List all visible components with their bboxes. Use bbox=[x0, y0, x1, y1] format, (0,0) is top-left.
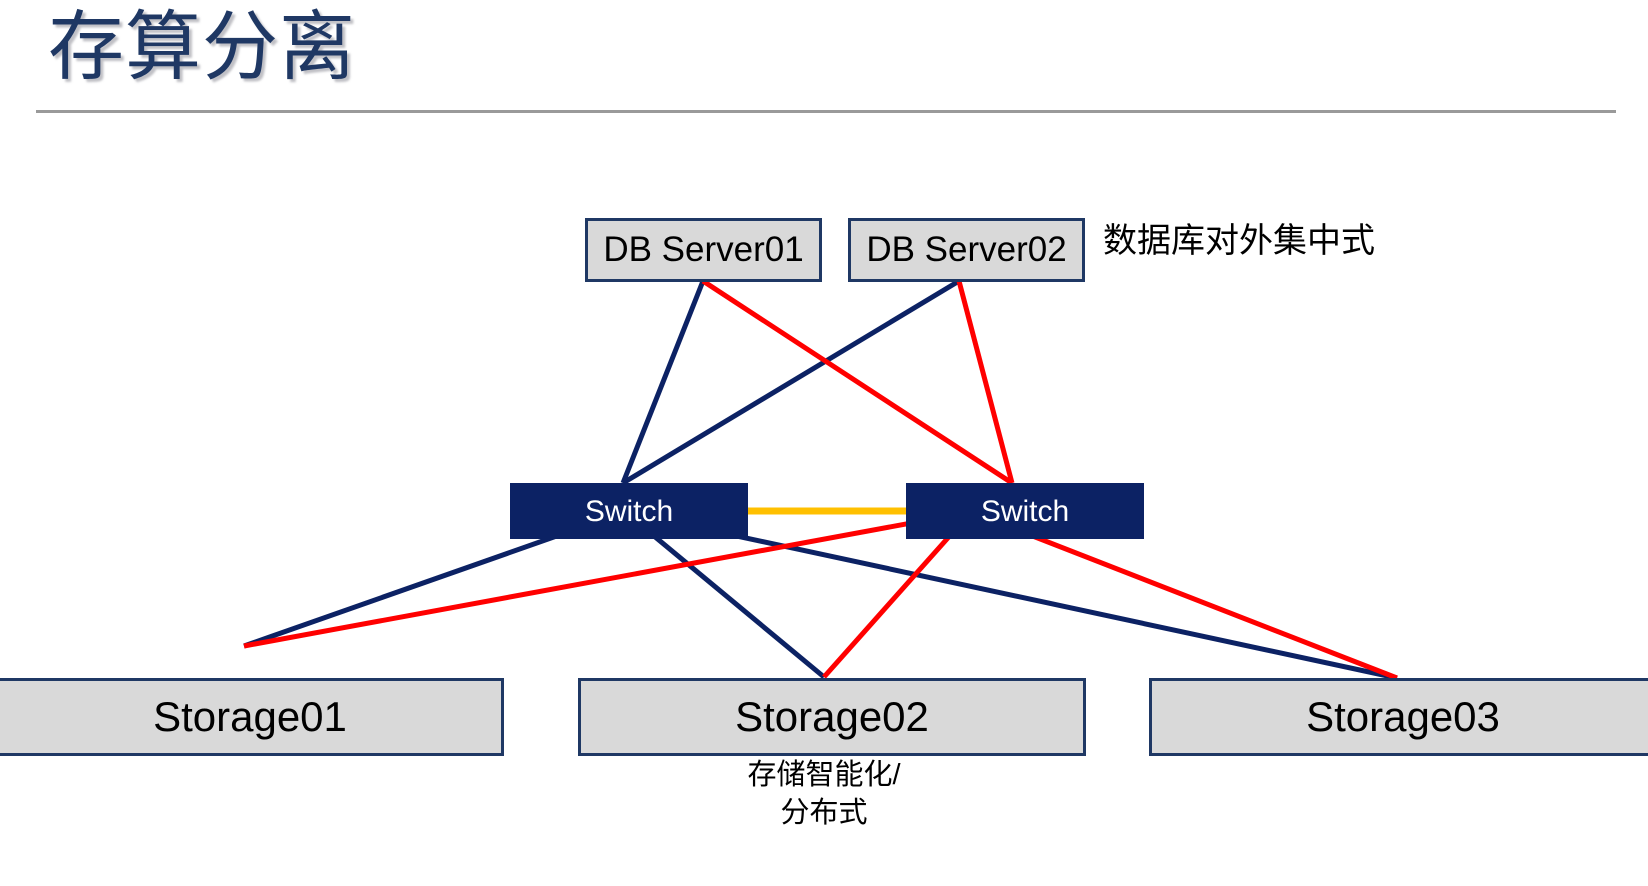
node-switch-left[interactable]: Switch bbox=[510, 483, 748, 539]
node-switch-left-label: Switch bbox=[585, 495, 673, 528]
link-db02-switch-right bbox=[959, 281, 1012, 483]
caption-storage-tier: 存储智能化/ 分布式 bbox=[614, 756, 1034, 833]
node-storage-01[interactable]: Storage01 bbox=[0, 678, 504, 756]
link-db02-switch-left bbox=[623, 281, 959, 483]
caption-database-tier: 数据库对外集中式 bbox=[1103, 220, 1375, 263]
title-divider bbox=[36, 110, 1616, 113]
node-switch-right-label: Switch bbox=[981, 495, 1069, 528]
node-db-server-01-label: DB Server01 bbox=[603, 231, 803, 270]
node-storage-03-label: Storage03 bbox=[1306, 694, 1500, 740]
node-db-server-02-label: DB Server02 bbox=[866, 231, 1066, 270]
node-storage-02-label: Storage02 bbox=[735, 694, 929, 740]
node-storage-02[interactable]: Storage02 bbox=[578, 678, 1086, 756]
node-storage-03[interactable]: Storage03 bbox=[1149, 678, 1648, 756]
node-db-server-02[interactable]: DB Server02 bbox=[848, 218, 1085, 282]
page-title: 存算分离 bbox=[48, 8, 356, 88]
link-db01-switch-left bbox=[623, 281, 703, 483]
slide-canvas: 存算分离 DB Server01 DB Server02 数据库对外集中式 Sw… bbox=[0, 0, 1648, 886]
node-switch-right[interactable]: Switch bbox=[906, 483, 1144, 539]
node-storage-01-label: Storage01 bbox=[153, 694, 347, 740]
node-db-server-01[interactable]: DB Server01 bbox=[585, 218, 822, 282]
link-db01-switch-right bbox=[703, 281, 1012, 483]
